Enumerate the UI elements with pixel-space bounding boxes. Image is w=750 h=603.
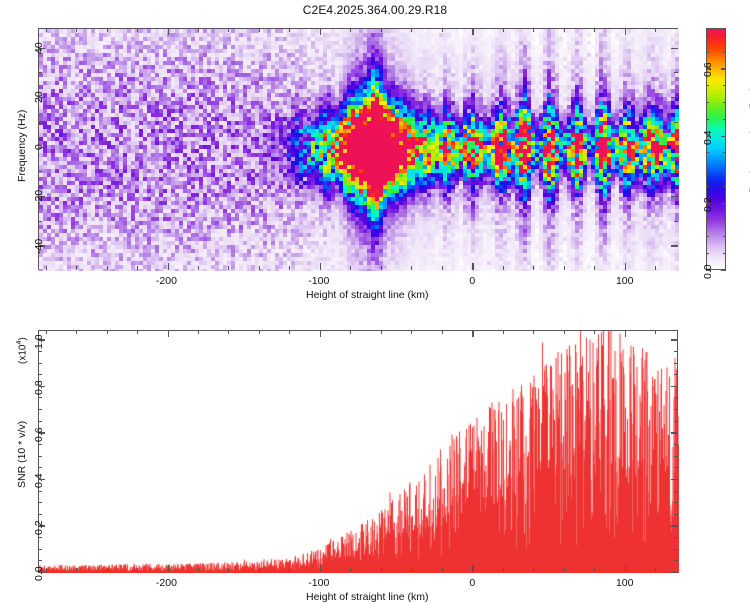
axis-tick xyxy=(168,565,169,572)
axis-tick xyxy=(442,266,443,270)
axis-tick xyxy=(411,28,412,32)
axis-tick xyxy=(46,330,47,334)
axis-tick xyxy=(671,432,678,433)
axis-tick xyxy=(350,266,351,270)
axis-tick xyxy=(594,568,595,572)
axis-tick xyxy=(671,196,678,197)
axis-tick xyxy=(706,85,709,86)
axis-tick xyxy=(674,72,678,73)
snr-panel xyxy=(38,330,678,572)
axis-tick xyxy=(674,351,678,352)
snr-x-axis-label: Height of straight line (km) xyxy=(306,591,429,603)
axis-tick xyxy=(533,568,534,572)
snr-multiplier-exponent: 4 xyxy=(16,341,23,345)
axis-tick xyxy=(198,28,199,32)
axis-tick xyxy=(107,266,108,270)
axis-tick xyxy=(411,330,412,334)
axis-tick-label: -100 xyxy=(308,275,329,287)
axis-tick xyxy=(442,568,443,572)
axis-tick xyxy=(723,35,726,36)
axis-tick-label: 40 xyxy=(33,42,45,54)
axis-tick xyxy=(38,421,42,422)
axis-tick xyxy=(38,456,42,457)
axis-tick xyxy=(503,266,504,270)
axis-tick xyxy=(137,266,138,270)
axis-tick xyxy=(442,28,443,32)
axis-tick xyxy=(533,266,534,270)
axis-tick xyxy=(259,266,260,270)
axis-tick xyxy=(38,560,42,561)
axis-tick xyxy=(411,266,412,270)
axis-tick xyxy=(107,568,108,572)
axis-tick-label: -20 xyxy=(33,190,45,205)
axis-tick xyxy=(259,28,260,32)
axis-tick-label: 20 xyxy=(33,91,45,103)
axis-tick xyxy=(411,568,412,572)
axis-tick xyxy=(198,266,199,270)
axis-tick xyxy=(259,568,260,572)
axis-tick xyxy=(137,330,138,334)
axis-tick xyxy=(38,122,42,123)
colorbar-tick-label: 0.4 xyxy=(702,130,714,145)
axis-tick xyxy=(381,568,382,572)
axis-tick xyxy=(594,330,595,334)
axis-tick xyxy=(38,467,42,468)
axis-tick xyxy=(381,28,382,32)
axis-tick xyxy=(723,236,726,237)
axis-tick xyxy=(723,119,726,120)
spectrogram-panel xyxy=(38,28,678,270)
axis-tick xyxy=(38,397,42,398)
axis-tick xyxy=(625,28,626,35)
axis-tick xyxy=(503,568,504,572)
axis-tick xyxy=(706,102,709,103)
colorbar-tick-label: 0.6 xyxy=(702,63,714,78)
axis-tick xyxy=(38,502,42,503)
colorbar-tick-label: 0.0 xyxy=(702,264,714,279)
axis-tick xyxy=(674,409,678,410)
axis-tick xyxy=(655,568,656,572)
axis-tick xyxy=(706,253,709,254)
axis-tick xyxy=(706,220,709,221)
axis-tick xyxy=(674,221,678,222)
axis-tick xyxy=(594,266,595,270)
axis-tick xyxy=(721,68,726,69)
axis-tick xyxy=(320,565,321,572)
axis-tick xyxy=(674,397,678,398)
axis-tick-label: 0 xyxy=(469,275,475,287)
axis-tick xyxy=(38,363,42,364)
axis-tick xyxy=(198,330,199,334)
axis-tick xyxy=(533,330,534,334)
axis-tick xyxy=(137,28,138,32)
axis-tick xyxy=(46,266,47,270)
axis-tick xyxy=(674,421,678,422)
axis-tick xyxy=(723,85,726,86)
axis-tick xyxy=(76,28,77,32)
axis-tick xyxy=(655,266,656,270)
axis-tick xyxy=(228,330,229,334)
axis-tick xyxy=(674,444,678,445)
axis-tick xyxy=(228,266,229,270)
axis-tick xyxy=(289,28,290,32)
axis-tick xyxy=(76,330,77,334)
axis-tick-label: 100 xyxy=(616,577,634,589)
axis-tick xyxy=(655,330,656,334)
spectrogram-y-axis-label: Frequency (Hz) xyxy=(16,110,28,182)
axis-tick xyxy=(564,330,565,334)
axis-tick xyxy=(706,236,709,237)
snr-multiplier-base: (x10 xyxy=(17,345,28,364)
axis-tick xyxy=(198,568,199,572)
axis-tick xyxy=(320,330,321,337)
axis-tick xyxy=(721,270,726,271)
axis-tick xyxy=(671,339,678,340)
axis-tick xyxy=(594,28,595,32)
axis-tick xyxy=(564,568,565,572)
axis-tick xyxy=(472,330,473,337)
axis-tick xyxy=(674,456,678,457)
figure-root: C2E4.2025.364.00.29.R18 -200-1000100-40-… xyxy=(0,0,750,600)
axis-tick-label: -100 xyxy=(308,577,329,589)
axis-tick xyxy=(259,330,260,334)
axis-tick xyxy=(671,572,678,573)
axis-tick xyxy=(671,479,678,480)
axis-tick xyxy=(38,409,42,410)
axis-tick xyxy=(723,186,726,187)
axis-tick xyxy=(228,568,229,572)
axis-tick xyxy=(671,48,678,49)
axis-tick xyxy=(723,102,726,103)
axis-tick xyxy=(472,565,473,572)
figure-title: C2E4.2025.364.00.29.R18 xyxy=(0,3,750,17)
axis-tick xyxy=(671,97,678,98)
axis-tick xyxy=(721,136,726,137)
axis-tick xyxy=(625,565,626,572)
axis-tick-label: 0.2 xyxy=(33,520,45,535)
axis-tick xyxy=(674,502,678,503)
snr-y-axis-label: SNR (10 * v/v) xyxy=(16,421,28,488)
axis-tick xyxy=(723,169,726,170)
axis-tick xyxy=(38,72,42,73)
axis-tick-label: 0.6 xyxy=(33,427,45,442)
axis-tick xyxy=(674,171,678,172)
axis-tick xyxy=(564,266,565,270)
axis-tick xyxy=(674,549,678,550)
axis-tick xyxy=(320,28,321,35)
axis-tick-label: 100 xyxy=(616,275,634,287)
axis-tick xyxy=(289,568,290,572)
axis-tick-label: -200 xyxy=(156,275,177,287)
axis-tick xyxy=(706,52,709,53)
axis-tick xyxy=(723,152,726,153)
axis-tick xyxy=(350,28,351,32)
axis-tick xyxy=(674,537,678,538)
axis-tick xyxy=(38,549,42,550)
axis-tick xyxy=(674,374,678,375)
spectrogram-image xyxy=(39,29,679,271)
axis-tick xyxy=(655,28,656,32)
axis-tick xyxy=(168,330,169,337)
axis-tick xyxy=(671,525,678,526)
axis-tick-label: 0 xyxy=(469,577,475,589)
axis-tick xyxy=(289,330,290,334)
axis-tick-label: 0.0 xyxy=(33,567,45,582)
axis-tick xyxy=(674,467,678,468)
axis-tick xyxy=(503,330,504,334)
axis-tick xyxy=(381,266,382,270)
axis-tick xyxy=(564,28,565,32)
axis-tick xyxy=(107,28,108,32)
axis-tick xyxy=(38,537,42,538)
axis-tick xyxy=(723,253,726,254)
axis-tick xyxy=(723,52,726,53)
axis-tick xyxy=(350,330,351,334)
axis-tick xyxy=(76,266,77,270)
axis-tick xyxy=(38,491,42,492)
axis-tick xyxy=(46,28,47,32)
axis-tick xyxy=(671,245,678,246)
axis-tick xyxy=(38,351,42,352)
axis-tick xyxy=(228,28,229,32)
axis-tick xyxy=(706,186,709,187)
axis-tick xyxy=(46,568,47,572)
axis-tick xyxy=(723,220,726,221)
axis-tick xyxy=(320,263,321,270)
axis-tick xyxy=(381,330,382,334)
axis-tick xyxy=(674,491,678,492)
axis-tick xyxy=(625,263,626,270)
axis-tick xyxy=(107,330,108,334)
axis-tick-label: -200 xyxy=(156,577,177,589)
axis-tick xyxy=(289,266,290,270)
axis-tick xyxy=(76,568,77,572)
axis-tick xyxy=(674,560,678,561)
axis-tick xyxy=(442,330,443,334)
snr-trace xyxy=(39,331,679,573)
axis-tick xyxy=(38,374,42,375)
colorbar-tick-label: 0.2 xyxy=(702,197,714,212)
axis-tick-label: 0 xyxy=(33,144,45,150)
axis-tick xyxy=(38,444,42,445)
spectrogram-x-axis-label: Height of straight line (km) xyxy=(306,289,429,301)
axis-tick xyxy=(168,263,169,270)
snr-multiplier-tail: ) xyxy=(17,337,28,340)
axis-tick xyxy=(706,169,709,170)
axis-tick xyxy=(472,263,473,270)
axis-tick xyxy=(671,147,678,148)
axis-tick xyxy=(38,171,42,172)
axis-tick xyxy=(674,122,678,123)
axis-tick xyxy=(674,363,678,364)
axis-tick xyxy=(625,330,626,337)
axis-tick-label: 1.0 xyxy=(33,334,45,349)
axis-tick xyxy=(674,514,678,515)
axis-tick xyxy=(503,28,504,32)
axis-tick xyxy=(137,568,138,572)
axis-tick-label: 0.8 xyxy=(33,381,45,396)
axis-tick xyxy=(168,28,169,35)
axis-tick xyxy=(350,568,351,572)
axis-tick xyxy=(706,119,709,120)
axis-tick xyxy=(533,28,534,32)
axis-tick xyxy=(706,152,709,153)
axis-tick xyxy=(38,221,42,222)
axis-tick-label: -40 xyxy=(33,239,45,254)
axis-tick xyxy=(671,386,678,387)
axis-tick xyxy=(706,35,709,36)
axis-tick-label: 0.4 xyxy=(33,474,45,489)
axis-tick xyxy=(721,203,726,204)
axis-tick xyxy=(38,514,42,515)
snr-multiplier-label: (x104) xyxy=(16,337,28,364)
axis-tick xyxy=(472,28,473,35)
